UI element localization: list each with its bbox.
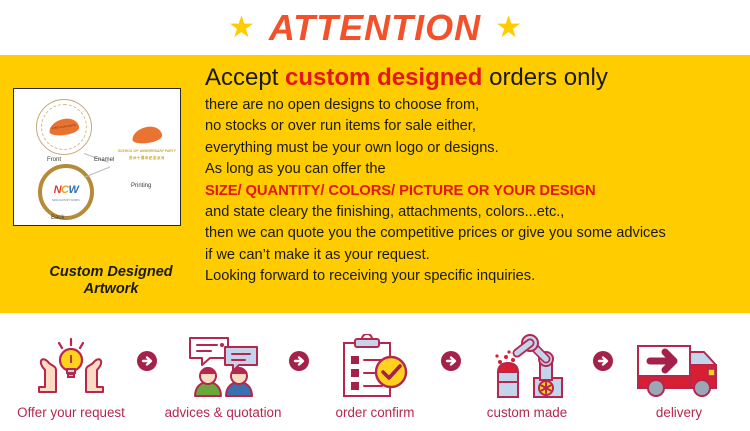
- label-front: Front: [47, 157, 61, 163]
- step-advices-quotation: advices & quotation: [164, 324, 282, 420]
- step-label: advices & quotation: [165, 405, 282, 420]
- artwork-caption: Custom Designed Artwork: [13, 264, 209, 298]
- chat-people-icon: [177, 334, 269, 398]
- delivery-truck-icon: [632, 334, 726, 398]
- emblem-icon: KIND LION MOTO: [48, 117, 80, 137]
- yellow-content-band: KIND LION MOTO NCW NEW CENTURY WORKS SUZ…: [0, 55, 750, 313]
- step-offer-your-request: Offer your request: [12, 324, 130, 420]
- arrow-right-circle-icon: [130, 324, 164, 420]
- arrow-right-circle-icon: [282, 324, 316, 420]
- label-back: Back: [51, 215, 64, 221]
- print-text-line2: 苏州十周年纪念派对: [118, 155, 176, 160]
- step-label: Offer your request: [17, 405, 125, 420]
- body-lines: there are no open designs to choose from…: [205, 95, 740, 288]
- artwork-caption-line2: Artwork: [13, 281, 209, 298]
- badge-front-icon: KIND LION MOTO: [36, 99, 92, 155]
- ncw-logo-subtitle: NEW CENTURY WORKS: [52, 199, 79, 202]
- step-delivery: delivery: [620, 324, 738, 420]
- body-line: As long as you can offer the: [205, 159, 740, 180]
- body-line: everything must be your own logo or desi…: [205, 138, 740, 159]
- headline: Accept custom designed orders only: [205, 63, 740, 93]
- step-order-confirm: order confirm: [316, 324, 434, 420]
- banner-header: ★ ATTENTION ★: [0, 0, 750, 55]
- step-custom-made: custom made: [468, 324, 586, 420]
- body-line-emphasis: SIZE/ QUANTITY/ COLORS/ PICTURE OR YOUR …: [205, 181, 740, 202]
- body-line: Looking forward to receiving your specif…: [205, 266, 740, 287]
- copy-block: Accept custom designed orders only there…: [205, 63, 740, 288]
- body-line: if we can’t make it as your request.: [205, 245, 740, 266]
- body-line: there are no open designs to choose from…: [205, 95, 740, 116]
- badge-back-icon: NCW NEW CENTURY WORKS: [38, 164, 94, 220]
- step-label: custom made: [487, 405, 567, 420]
- print-emblem-icon: [131, 125, 163, 145]
- robot-arm-icon: [484, 334, 570, 398]
- page-title: ATTENTION: [269, 7, 481, 49]
- process-steps: Offer your request: [0, 313, 750, 431]
- body-line: no stocks or over run items for sale eit…: [205, 116, 740, 137]
- print-text-line1: SUZHOU 10ᵗʰ ANNIVERSARY PARTY: [118, 149, 176, 153]
- body-line: then we can quote you the competitive pr…: [205, 223, 740, 244]
- clipboard-check-icon: [336, 334, 414, 398]
- body-line: and state cleary the finishing, attachme…: [205, 202, 740, 223]
- leader-line-printing: [84, 167, 110, 178]
- printing-sample: SUZHOU 10ᵗʰ ANNIVERSARY PARTY 苏州十周年纪念派对: [118, 127, 176, 169]
- artwork-panel: KIND LION MOTO NCW NEW CENTURY WORKS SUZ…: [13, 88, 181, 226]
- attention-banner: ★ ATTENTION ★ KIND LION MOTO NCW NEW CEN…: [0, 0, 750, 431]
- arrow-right-circle-icon: [434, 324, 468, 420]
- artwork-caption-line1: Custom Designed: [13, 264, 209, 281]
- headline-before: Accept: [205, 64, 285, 91]
- label-enamel: Enamel: [94, 157, 114, 163]
- step-label: order confirm: [336, 405, 415, 420]
- headline-highlight: custom designed: [285, 64, 482, 91]
- step-label: delivery: [656, 405, 702, 420]
- ncw-logo: NCW: [54, 184, 79, 196]
- emblem-text: KIND LION MOTO: [52, 124, 77, 130]
- star-right-icon: ★: [495, 13, 522, 43]
- arrow-right-circle-icon: [586, 324, 620, 420]
- label-printing: Printing: [131, 183, 151, 189]
- headline-after: orders only: [482, 64, 607, 91]
- star-left-icon: ★: [228, 13, 255, 43]
- hands-lightbulb-icon: [28, 334, 114, 398]
- artwork-image: KIND LION MOTO NCW NEW CENTURY WORKS SUZ…: [13, 88, 181, 226]
